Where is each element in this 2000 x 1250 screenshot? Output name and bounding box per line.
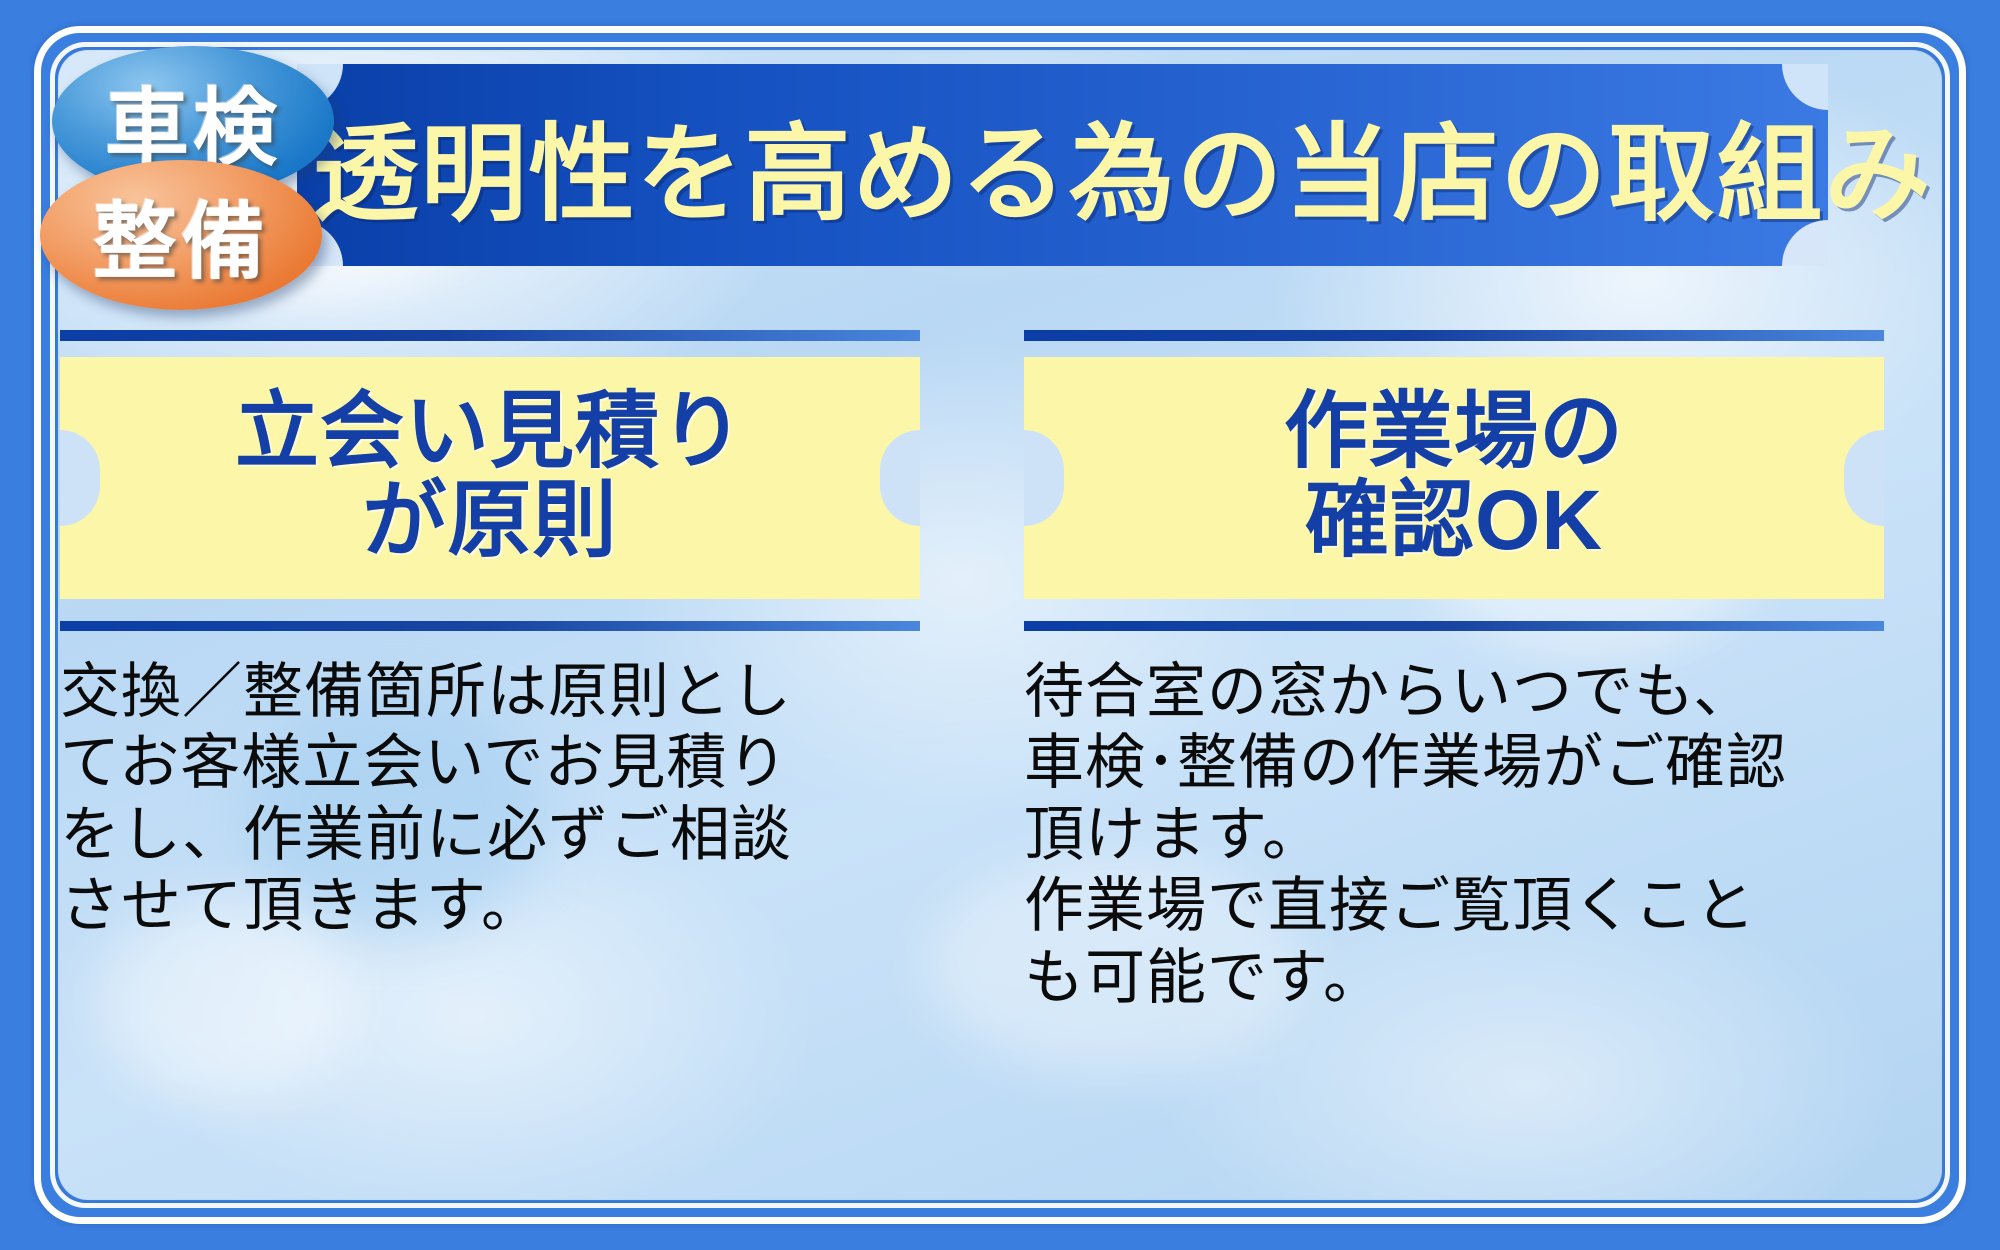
column-right: 作業場の 確認OK 待合室の窓からいつでも、 車検･整備の作業場がご確認 頂けま… — [1024, 330, 1884, 1014]
divider-body-left — [60, 621, 920, 631]
badge-seibi: 整備 — [40, 160, 322, 310]
body-text-left: 交換／整備箇所は原則とし てお客様立会いでお見積り をし、作業前に必ずご相談 さ… — [60, 657, 920, 943]
heading-line-1: 立会い見積り — [235, 387, 745, 476]
heading-banner-left: 立会い見積り が原則 — [60, 357, 920, 599]
page-title: 透明性を高める為の当店の取組み — [297, 64, 1828, 266]
divider-top-right — [1024, 330, 1884, 341]
divider-top-left — [60, 330, 920, 341]
heading-banner-right: 作業場の 確認OK — [1024, 357, 1884, 599]
banner-stage: 透明性を高める為の当店の取組み 車検 整備 立会い見積り が原則 交換／整備箇所… — [0, 0, 2000, 1250]
heading-line-2: が原則 — [362, 476, 617, 565]
header-bar: 透明性を高める為の当店の取組み — [297, 64, 1828, 266]
badge-seibi-label: 整備 — [93, 175, 269, 296]
heading-line-2: 確認OK — [1305, 476, 1603, 565]
heading-line-1: 作業場の — [1284, 387, 1624, 476]
divider-body-right — [1024, 621, 1884, 631]
column-left: 立会い見積り が原則 交換／整備箇所は原則とし てお客様立会いでお見積り をし、… — [60, 330, 920, 943]
body-text-right: 待合室の窓からいつでも、 車検･整備の作業場がご確認 頂けます。 作業場で直接ご… — [1024, 657, 1884, 1014]
